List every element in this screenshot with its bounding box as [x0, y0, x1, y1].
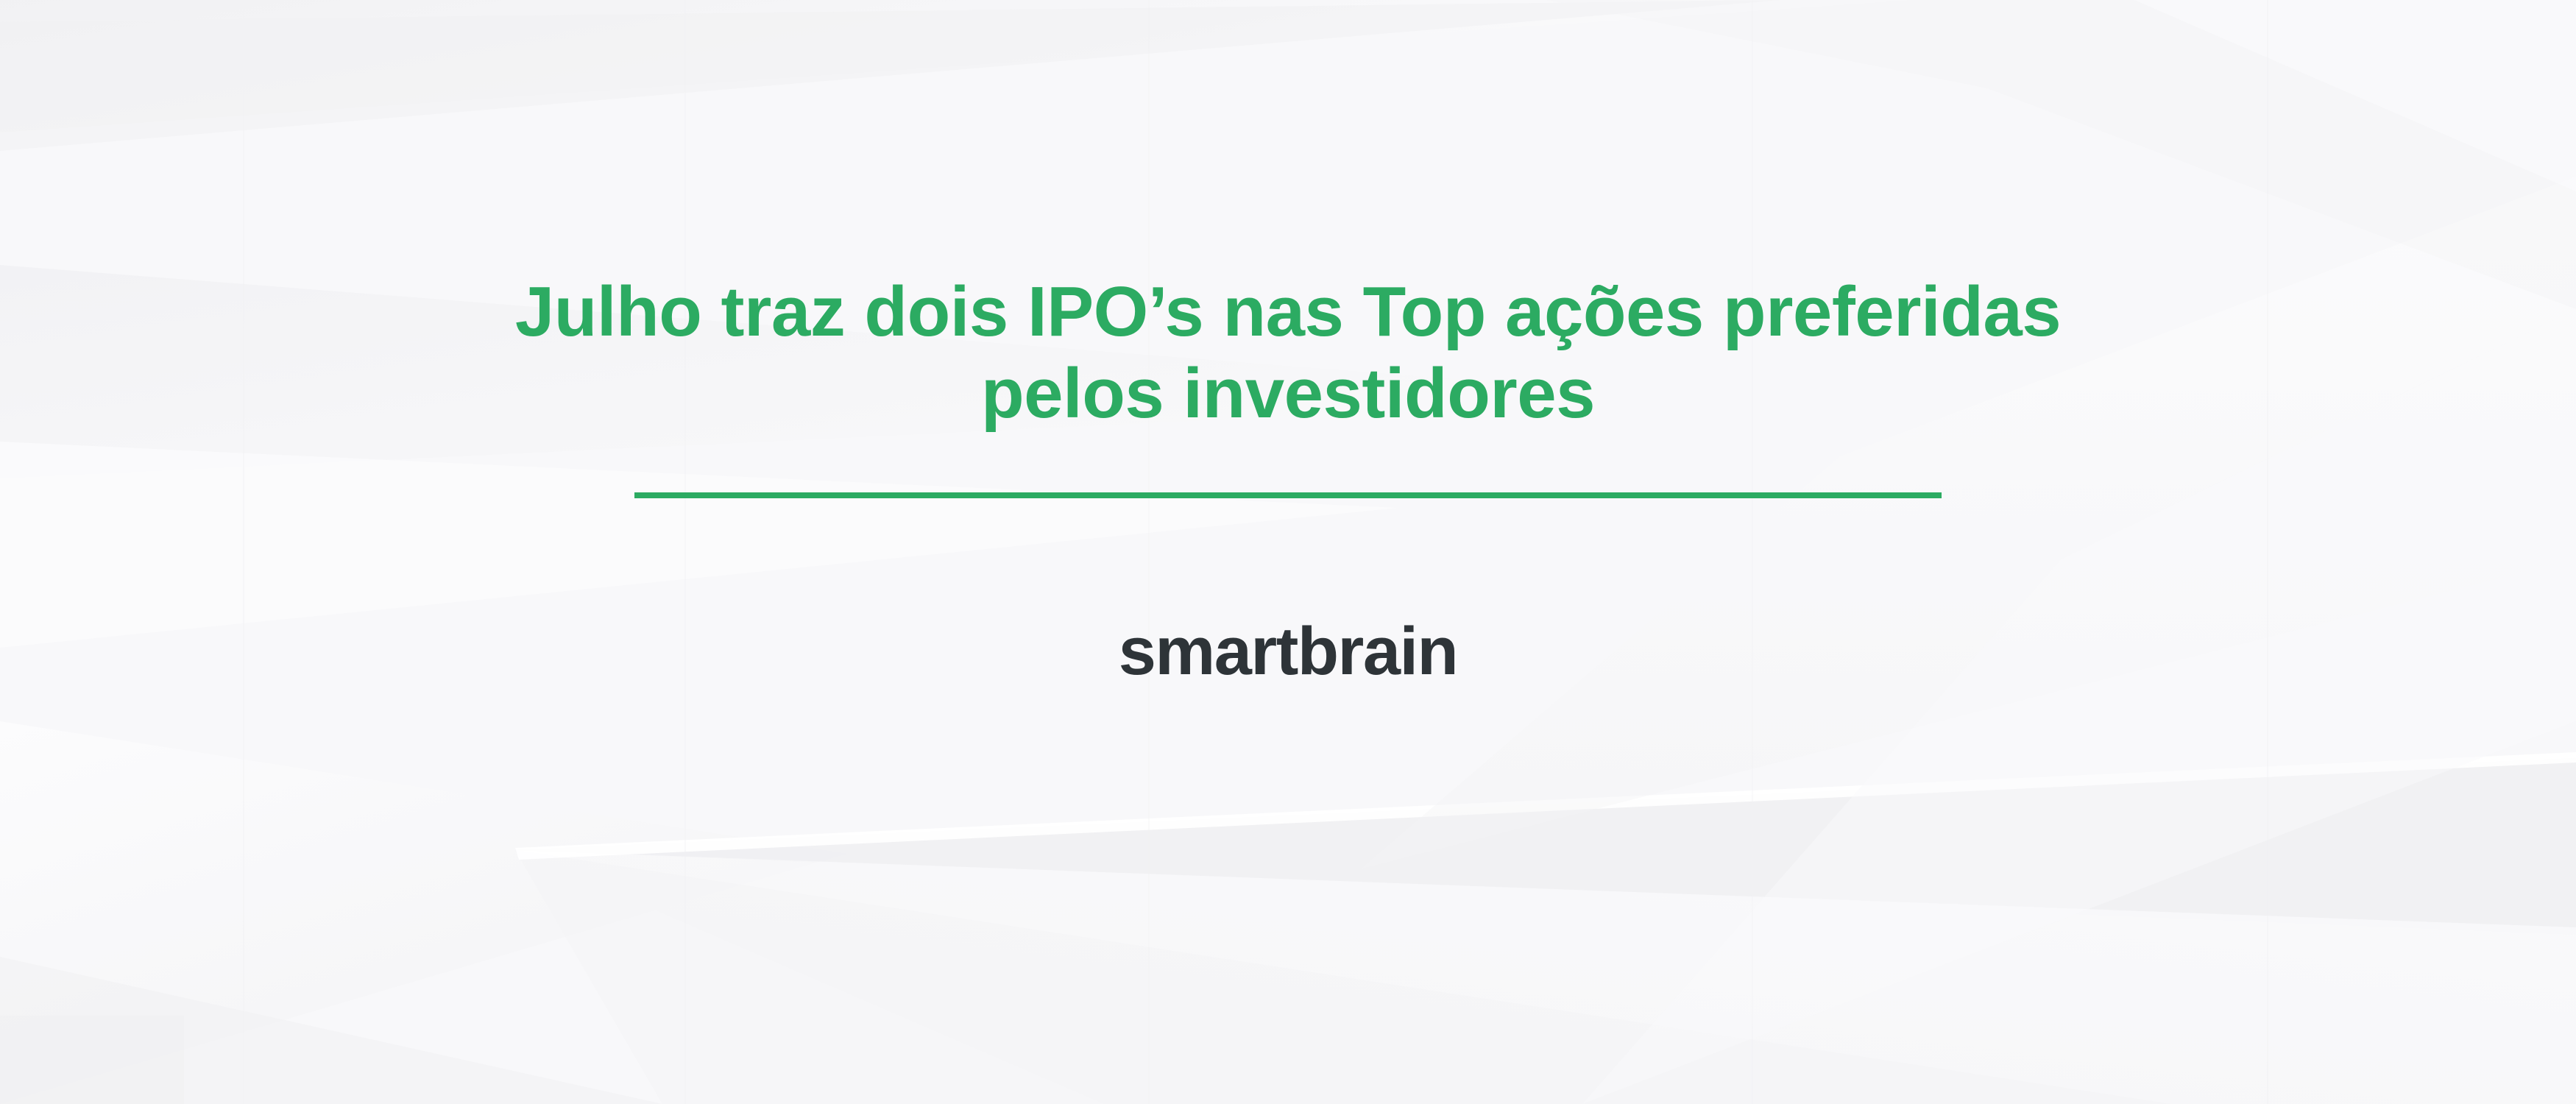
cover-canvas: Julho traz dois IPO’s nas Top ações pref… [0, 0, 2576, 1104]
page-title: Julho traz dois IPO’s nas Top ações pref… [405, 271, 2171, 435]
brand-logo-wordmark: smartbrain [1119, 618, 1458, 685]
divider-container [0, 492, 2576, 498]
accent-divider [634, 492, 1942, 498]
cover-content: Julho traz dois IPO’s nas Top ações pref… [0, 0, 2576, 1104]
brand-container: smartbrain [0, 618, 2576, 685]
